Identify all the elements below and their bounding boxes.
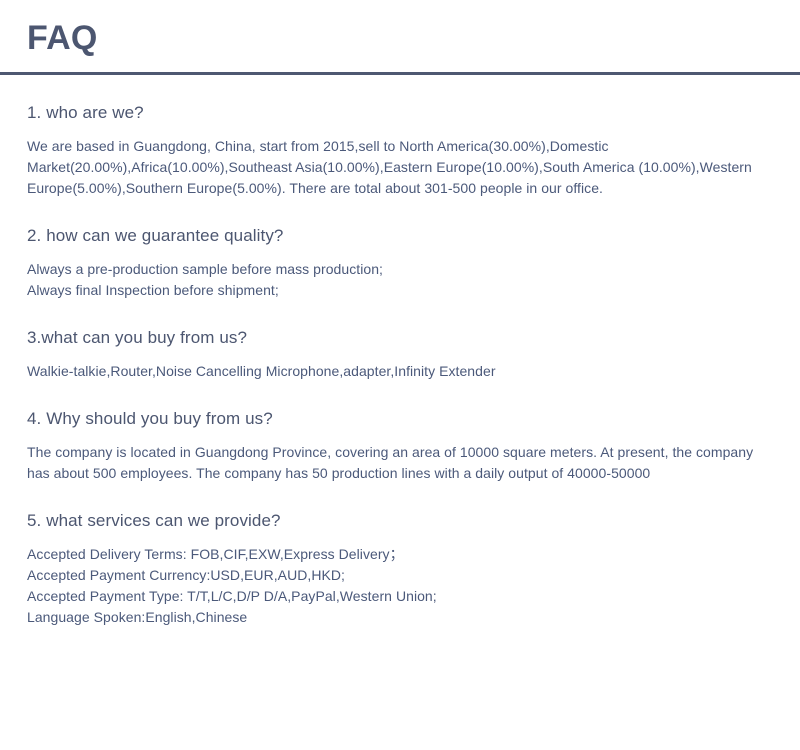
faq-answer-1: We are based in Guangdong, China, start …: [27, 136, 773, 199]
faq-answer-line: Accepted Delivery Terms: FOB,CIF,EXW,Exp…: [27, 544, 773, 565]
faq-answer-line: Language Spoken:English,Chinese: [27, 607, 773, 628]
faq-header: FAQ: [0, 0, 800, 58]
faq-question-2: 2. how can we guarantee quality?: [27, 225, 773, 246]
faq-answer-4: The company is located in Guangdong Prov…: [27, 442, 773, 484]
faq-answer-line: Always final Inspection before shipment;: [27, 280, 773, 301]
faq-answer-line: The company is located in Guangdong Prov…: [27, 442, 773, 484]
faq-answer-line: Walkie-talkie,Router,Noise Cancelling Mi…: [27, 361, 773, 382]
faq-question-3: 3.what can you buy from us?: [27, 327, 773, 348]
title-divider: [0, 72, 800, 75]
faq-question-5: 5. what services can we provide?: [27, 510, 773, 531]
faq-answer-5: Accepted Delivery Terms: FOB,CIF,EXW,Exp…: [27, 544, 773, 628]
faq-answer-line: Accepted Payment Currency:USD,EUR,AUD,HK…: [27, 565, 773, 586]
faq-list: 1. who are we? We are based in Guangdong…: [0, 102, 800, 628]
faq-section-3: 3.what can you buy from us? Walkie-talki…: [27, 327, 773, 382]
faq-answer-line: Always a pre-production sample before ma…: [27, 259, 773, 280]
faq-section-2: 2. how can we guarantee quality? Always …: [27, 225, 773, 301]
faq-page: FAQ 1. who are we? We are based in Guang…: [0, 0, 800, 750]
faq-answer-line: Accepted Payment Type: T/T,L/C,D/P D/A,P…: [27, 586, 773, 607]
page-title: FAQ: [27, 18, 800, 58]
faq-answer-3: Walkie-talkie,Router,Noise Cancelling Mi…: [27, 361, 773, 382]
faq-question-1: 1. who are we?: [27, 102, 773, 123]
faq-section-4: 4. Why should you buy from us? The compa…: [27, 408, 773, 484]
faq-answer-2: Always a pre-production sample before ma…: [27, 259, 773, 301]
faq-section-1: 1. who are we? We are based in Guangdong…: [27, 102, 773, 199]
faq-section-5: 5. what services can we provide? Accepte…: [27, 510, 773, 628]
faq-answer-line: We are based in Guangdong, China, start …: [27, 136, 773, 199]
faq-question-4: 4. Why should you buy from us?: [27, 408, 773, 429]
